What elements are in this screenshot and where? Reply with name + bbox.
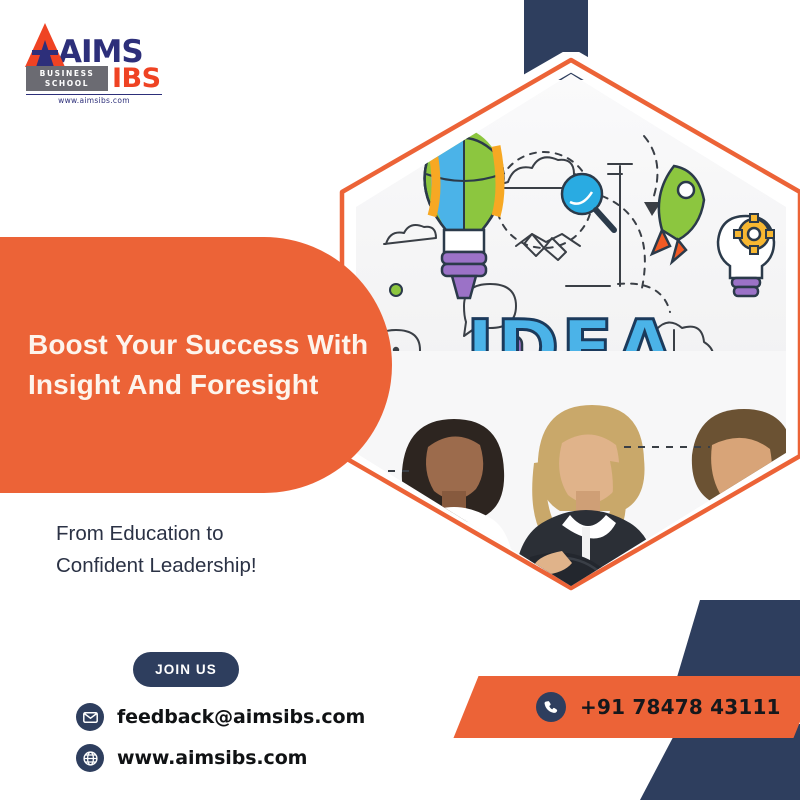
contact-website-text: www.aimsibs.com — [117, 747, 307, 769]
aims-ibs-logo[interactable]: AIMS BUSINESS SCHOOL IBS www.aimsibs.com — [24, 18, 164, 93]
phone-icon — [536, 692, 566, 722]
logo-primary-row: AIMS — [24, 28, 143, 68]
subheadline: From Education to Confident Leadership! — [56, 518, 376, 582]
contact-phone-text: +91 78478 43111 — [580, 695, 781, 719]
contact-email-text: feedback@aimsibs.com — [117, 706, 365, 728]
headline-line-1: Boost Your Success With — [0, 325, 392, 365]
logo-tagline-line2: SCHOOL — [45, 79, 89, 88]
logo-tagline-badge: BUSINESS SCHOOL — [26, 66, 108, 91]
globe-icon — [76, 744, 104, 772]
subheadline-line-1: From Education to — [56, 518, 376, 550]
logo-url: www.aimsibs.com — [24, 96, 164, 105]
envelope-icon — [76, 703, 104, 731]
contact-website-row[interactable]: www.aimsibs.com — [76, 744, 307, 772]
hexagon-hero: IDEA — [330, 52, 800, 612]
poster-canvas: AIMS BUSINESS SCHOOL IBS www.aimsibs.com — [0, 0, 800, 800]
logo-secondary-row: BUSINESS SCHOOL IBS — [26, 65, 161, 92]
logo-divider — [26, 94, 162, 95]
headline-line-2: Insight And Foresight — [0, 365, 392, 405]
logo-wordmark-ibs: IBS — [112, 65, 161, 92]
subheadline-line-2: Confident Leadership! — [56, 550, 376, 582]
logo-tagline-line1: BUSINESS — [40, 69, 95, 78]
join-us-button[interactable]: JOIN US — [133, 652, 239, 687]
contact-email-row[interactable]: feedback@aimsibs.com — [76, 703, 365, 731]
green-dot — [390, 284, 402, 296]
aims-triangle-mark-icon — [24, 22, 66, 68]
headline-banner: Boost Your Success With Insight And Fore… — [0, 237, 392, 493]
contact-phone-row[interactable]: +91 78478 43111 — [520, 676, 800, 738]
